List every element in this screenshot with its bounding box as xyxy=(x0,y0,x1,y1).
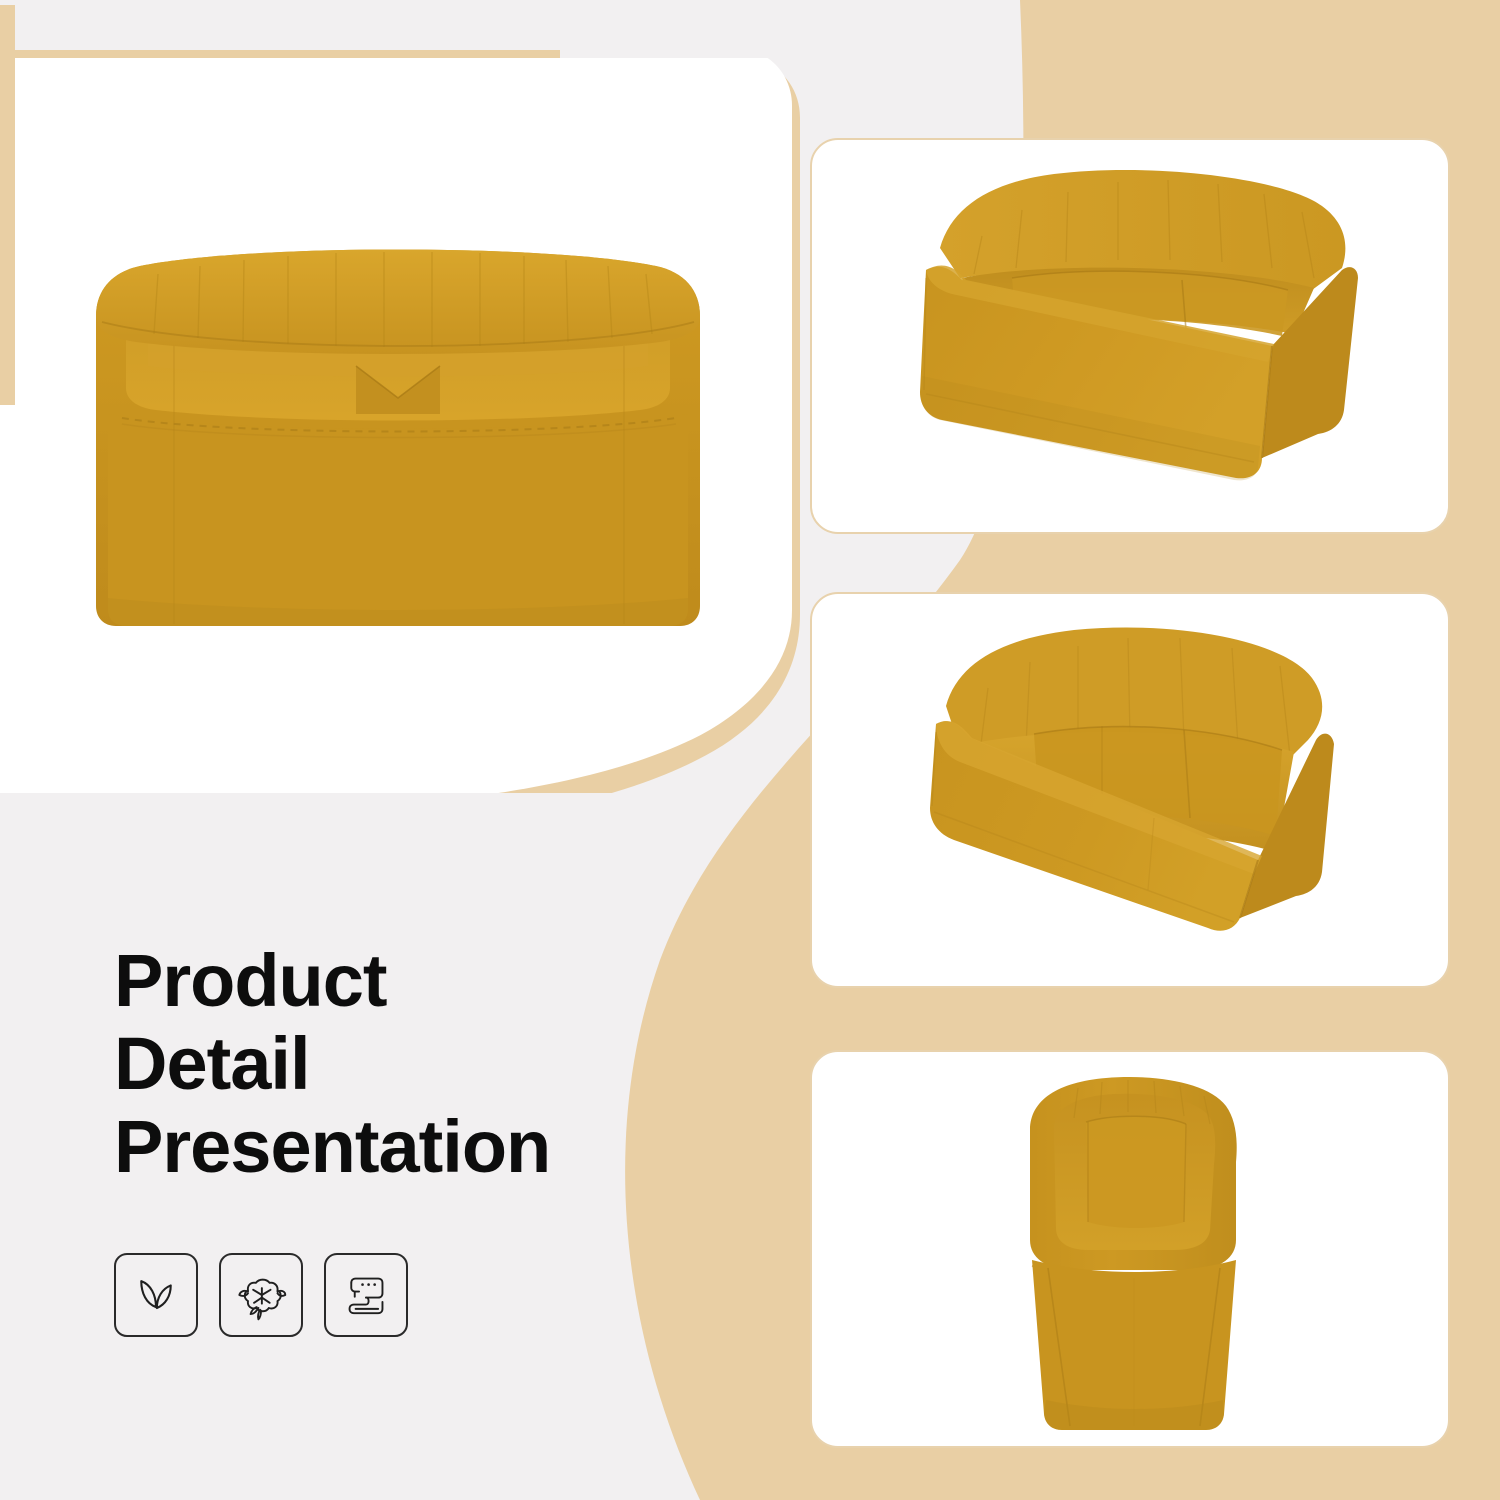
sewing-machine-icon[interactable] xyxy=(324,1253,408,1337)
product-photo-end-view xyxy=(1002,1070,1264,1440)
accent-bar xyxy=(0,5,15,405)
product-photo-angled-view xyxy=(882,158,1382,518)
page-title: Product Detail Presentation xyxy=(114,940,550,1189)
poster-canvas: Product Detail Presentation xyxy=(0,0,1500,1500)
feature-icon-row xyxy=(114,1253,408,1337)
cotton-icon[interactable] xyxy=(219,1253,303,1337)
product-photo-top-open-view xyxy=(884,622,1384,962)
top-tan-band xyxy=(0,50,560,82)
product-card-angled-view xyxy=(810,138,1450,534)
product-photo-front-view xyxy=(88,238,708,638)
product-card-top-open-view xyxy=(810,592,1450,988)
leaf-icon[interactable] xyxy=(114,1253,198,1337)
product-card-end-view xyxy=(810,1050,1450,1448)
